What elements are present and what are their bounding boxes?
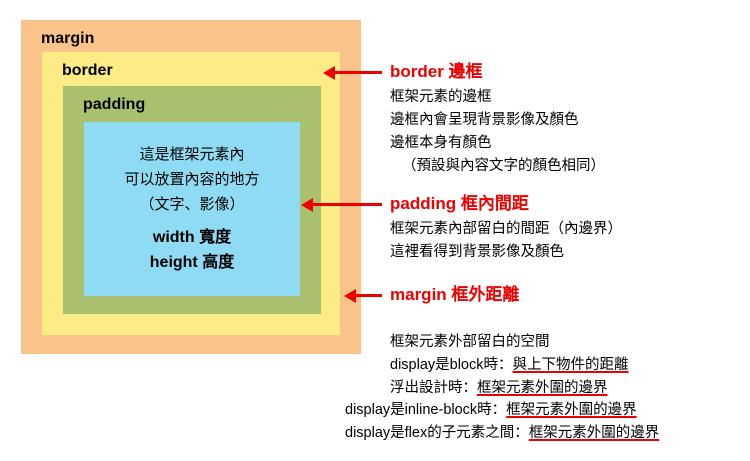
content-line-3: （文字、影像） bbox=[84, 192, 300, 217]
content-box: 這是框架元素內 可以放置內容的地方 （文字、影像） width 寬度 heigh… bbox=[84, 122, 300, 296]
content-box-text: 這是框架元素內 可以放置內容的地方 （文字、影像） width 寬度 heigh… bbox=[84, 142, 300, 275]
border-annotation-body: 框架元素的邊框 邊框內會呈現背景影像及顏色 邊框本身有顏色 （預設與內容文字的顏… bbox=[390, 86, 605, 178]
border-annotation-line-3: 邊框本身有顏色 bbox=[390, 132, 605, 155]
margin-annotation-heading: margin 框外距離 bbox=[390, 286, 519, 303]
margin-line-3-emphasis: 框架元素外圍的邊界 bbox=[477, 380, 608, 396]
margin-annotation-body: 框架元素外部留白的空間 display是block時：與上下物件的距離 浮出設計… bbox=[390, 331, 629, 400]
footer-line-1-prefix: display是inline-block時： bbox=[345, 402, 506, 418]
footer-line-2-prefix: display是flex的子元素之間： bbox=[345, 425, 529, 441]
footer-line-2-emphasis: 框架元素外圍的邊界 bbox=[529, 425, 660, 441]
content-line-2: 可以放置內容的地方 bbox=[84, 167, 300, 192]
padding-box-label: padding bbox=[83, 97, 145, 113]
margin-annotation-line-2: display是block時：與上下物件的距離 bbox=[390, 354, 629, 377]
border-annotation-heading: border 邊框 bbox=[390, 63, 483, 80]
margin-box: margin border padding 這是框架元素內 可以放置內容的地方 … bbox=[21, 20, 361, 354]
margin-line-2-prefix: display是block時： bbox=[390, 357, 513, 373]
padding-annotation-body: 框架元素內部留白的間距（內邊界） 這裡看得到背景影像及顏色 bbox=[390, 218, 622, 264]
margin-box-label: margin bbox=[41, 31, 94, 47]
margin-line-3-prefix: 浮出設計時： bbox=[390, 380, 477, 396]
border-box-label: border bbox=[62, 63, 113, 79]
border-annotation-line-1: 框架元素的邊框 bbox=[390, 86, 605, 109]
border-callout-arrow-icon bbox=[334, 71, 382, 74]
padding-annotation-heading: padding 框內間距 bbox=[390, 195, 529, 212]
content-line-1: 這是框架元素內 bbox=[84, 142, 300, 167]
padding-box: padding 這是框架元素內 可以放置內容的地方 （文字、影像） width … bbox=[63, 86, 321, 314]
margin-line-2-emphasis: 與上下物件的距離 bbox=[513, 357, 629, 373]
content-spacer bbox=[84, 217, 300, 225]
padding-callout-arrow-icon bbox=[312, 203, 382, 206]
margin-callout-arrow-icon bbox=[355, 294, 382, 297]
border-box: border padding 這是框架元素內 可以放置內容的地方 （文字、影像）… bbox=[42, 52, 340, 335]
content-height-line: height 高度 bbox=[84, 250, 300, 275]
padding-annotation-line-2: 這裡看得到背景影像及顏色 bbox=[390, 241, 622, 264]
footer-notes: display是inline-block時：框架元素外圍的邊界 display是… bbox=[345, 399, 659, 445]
footer-line-2: display是flex的子元素之間：框架元素外圍的邊界 bbox=[345, 422, 659, 445]
footer-line-1-emphasis: 框架元素外圍的邊界 bbox=[506, 402, 637, 418]
border-annotation-line-2: 邊框內會呈現背景影像及顏色 bbox=[390, 109, 605, 132]
content-width-line: width 寬度 bbox=[84, 225, 300, 250]
margin-annotation-line-1: 框架元素外部留白的空間 bbox=[390, 331, 629, 354]
padding-annotation-line-1: 框架元素內部留白的間距（內邊界） bbox=[390, 218, 622, 241]
border-annotation-line-4: （預設與內容文字的顏色相同） bbox=[390, 155, 605, 178]
footer-line-1: display是inline-block時：框架元素外圍的邊界 bbox=[345, 399, 659, 422]
margin-annotation-line-3: 浮出設計時：框架元素外圍的邊界 bbox=[390, 377, 629, 400]
